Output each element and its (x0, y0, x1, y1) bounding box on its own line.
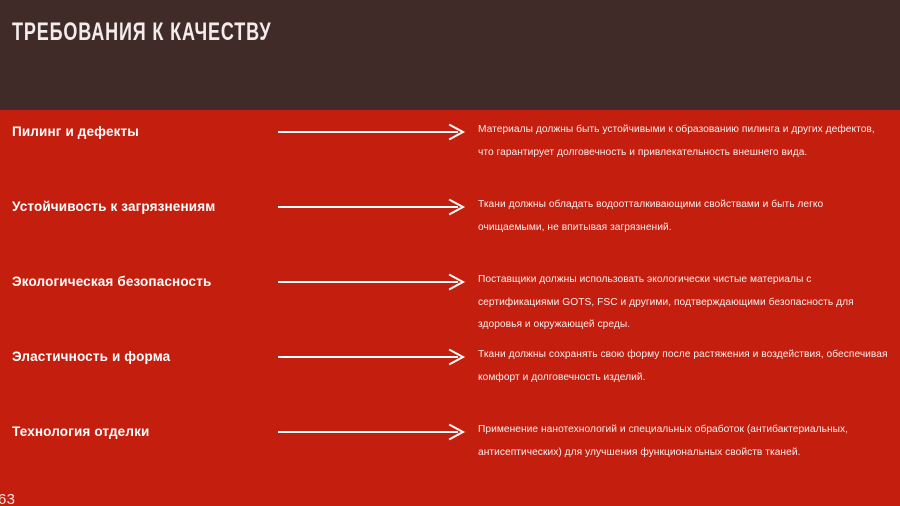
list-item: Эластичность и форма Ткани должны сохран… (0, 338, 900, 413)
list-item: Пилинг и дефекты Материалы должны быть у… (0, 113, 900, 188)
requirement-description: Применение нанотехнологий и специальных … (478, 419, 890, 464)
list-item: Устойчивость к загрязнениям Ткани должны… (0, 188, 900, 263)
requirement-label: Устойчивость к загрязнениям (12, 198, 262, 215)
requirement-label: Технология отделки (12, 423, 262, 440)
requirement-label: Эластичность и форма (12, 348, 262, 365)
page-number: 63 (0, 491, 15, 506)
slide-root: ТРЕБОВАНИЯ К КАЧЕСТВУ Пилинг и дефекты М… (0, 0, 900, 506)
arrow-right-icon (278, 198, 466, 216)
list-item: Экологическая безопасность Поставщики до… (0, 263, 900, 338)
arrow-right-icon (278, 423, 466, 441)
slide-header: ТРЕБОВАНИЯ К КАЧЕСТВУ (0, 0, 900, 110)
arrow-right-icon (278, 348, 466, 366)
requirement-description: Ткани должны сохранять свою форму после … (478, 344, 890, 389)
arrow-right-icon (278, 273, 466, 291)
requirement-description: Поставщики должны использовать экологиче… (478, 269, 890, 337)
list-item: Технология отделки Применение нанотехнол… (0, 413, 900, 488)
requirement-description: Ткани должны обладать водоотталкивающими… (478, 194, 890, 239)
page-title: ТРЕБОВАНИЯ К КАЧЕСТВУ (12, 18, 271, 46)
requirement-label: Пилинг и дефекты (12, 123, 262, 140)
arrow-right-icon (278, 123, 466, 141)
requirement-label: Экологическая безопасность (12, 273, 262, 290)
requirements-list: Пилинг и дефекты Материалы должны быть у… (0, 110, 900, 506)
requirement-description: Материалы должны быть устойчивыми к обра… (478, 119, 890, 164)
